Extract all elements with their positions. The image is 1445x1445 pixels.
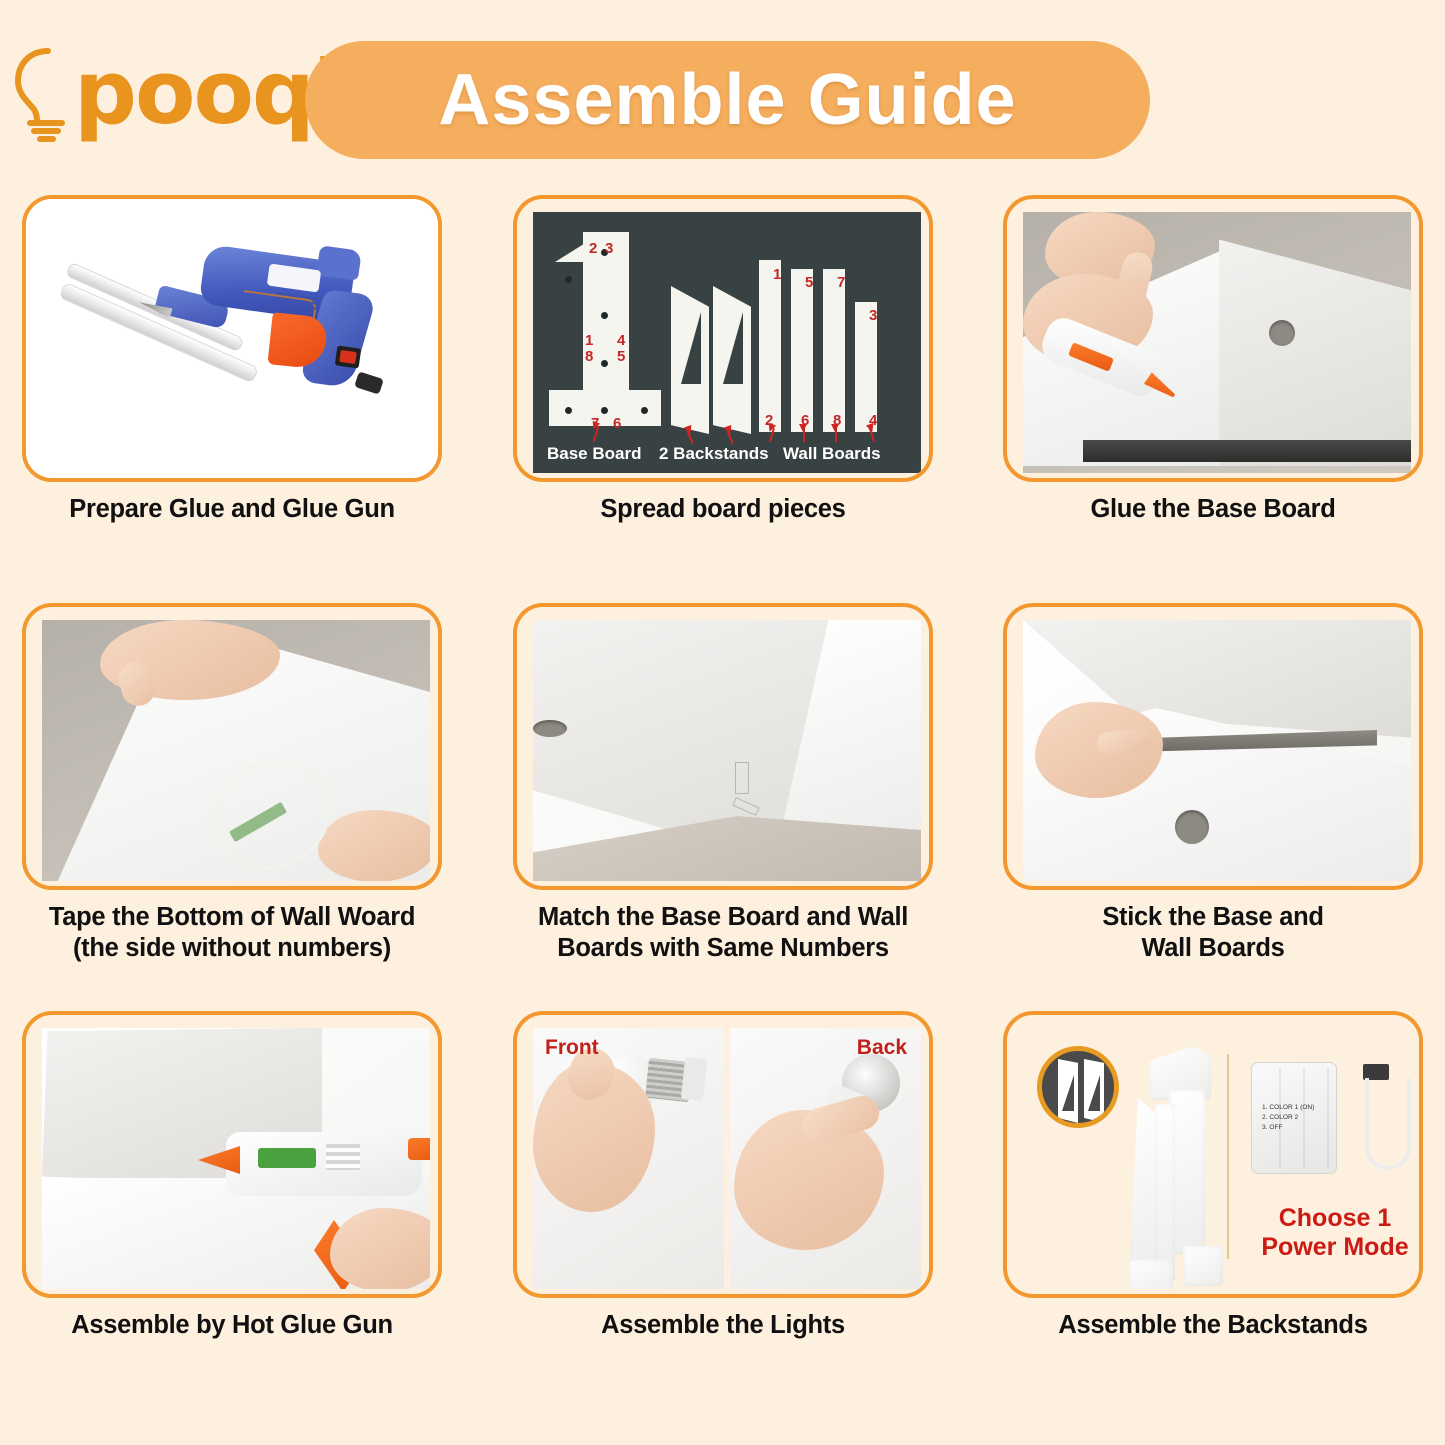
- power-mode-line1: Choose 1: [1279, 1204, 1392, 1232]
- step-3-caption: Glue the Base Board: [1003, 494, 1423, 525]
- step-card-3: Glue the Base Board: [1003, 195, 1423, 525]
- step-3-image-frame: [1003, 195, 1423, 482]
- two-backstand-pieces-icon: [1037, 1046, 1119, 1128]
- front-photo: Front: [533, 1028, 724, 1289]
- sticking-boards-photo: [1023, 620, 1411, 881]
- base-board-hole: [565, 276, 572, 283]
- step-2-caption: Spread board pieces: [513, 494, 933, 525]
- step-2-image-frame: 2 3 1 8 4 5 7 6: [513, 195, 933, 482]
- battery-box-icon: 1. COLOR 1 (ON) 2. COLOR 2 3. OFF: [1251, 1062, 1337, 1174]
- board-number: 5: [617, 348, 625, 365]
- battery-mode-text: 1. COLOR 1 (ON) 2. COLOR 2 3. OFF: [1262, 1103, 1314, 1133]
- step-1-caption: Prepare Glue and Glue Gun: [22, 494, 442, 525]
- lights-assembly-photos: Front Back: [533, 1028, 921, 1289]
- page-title: Assemble Guide: [438, 59, 1016, 141]
- step-8-image-frame: Front Back: [513, 1011, 933, 1298]
- board-number: 6: [613, 415, 621, 432]
- number-foot-left: [1129, 1260, 1173, 1289]
- base-board-hole: [641, 407, 648, 414]
- step-card-1: Prepare Glue and Glue Gun: [22, 195, 442, 525]
- title-banner: Assemble Guide: [305, 41, 1150, 159]
- glue-gun-vents: [326, 1144, 360, 1170]
- wall-board: [791, 269, 813, 432]
- step-card-5: Match the Base Board and Wall Boards wit…: [513, 603, 933, 964]
- steps-row-3: Assemble by Hot Glue Gun Front: [0, 1011, 1445, 1419]
- backstand-right: [1155, 1104, 1175, 1280]
- back-label: Back: [857, 1036, 907, 1060]
- step-card-2: 2 3 1 8 4 5 7 6: [513, 195, 933, 525]
- blue-glue-gun-illustration: [26, 199, 438, 478]
- number-foot: [1183, 1246, 1223, 1286]
- board-number: 3: [605, 240, 613, 257]
- step-6-caption-line2: Wall Boards: [1141, 934, 1284, 962]
- table-edge: [1083, 440, 1411, 462]
- backstand-shape: [1058, 1059, 1078, 1123]
- glue-gun-green-label: [258, 1148, 316, 1168]
- wall-board: [823, 269, 845, 432]
- board-pieces-diagram: 2 3 1 8 4 5 7 6: [533, 212, 921, 473]
- base-board-hole: [565, 407, 572, 414]
- base-board-hole: [601, 360, 608, 367]
- board-number: 7: [837, 274, 845, 291]
- backstand-shape: [1084, 1059, 1104, 1123]
- power-mode-note: Choose 1 Power Mode: [1237, 1204, 1411, 1261]
- step-card-8: Front Back: [513, 1011, 933, 1341]
- board-number: 3: [869, 307, 877, 324]
- usb-cable-icon: [1357, 1064, 1411, 1174]
- step-5-image-frame: [513, 603, 933, 890]
- step-9-caption: Assemble the Backstands: [1003, 1310, 1423, 1341]
- group-label-wall-boards: Wall Boards: [783, 444, 881, 464]
- glue-gun-power-switch-icon: [335, 345, 362, 368]
- step-7-image-frame: [22, 1011, 442, 1298]
- step-4-caption: Tape the Bottom of Wall Woard (the side …: [22, 902, 442, 964]
- hand: [318, 810, 430, 881]
- board-hole: [1175, 810, 1209, 844]
- hot-glue-gun-photo: [42, 1028, 430, 1289]
- step-card-6: Stick the Base and Wall Boards: [1003, 603, 1423, 964]
- back-photo: Back: [730, 1028, 921, 1289]
- pointer-arrow-head: [799, 424, 807, 432]
- gluing-base-board-photo: [1023, 212, 1411, 473]
- step-card-4: Tape the Bottom of Wall Woard (the side …: [22, 603, 442, 964]
- board-number: 8: [585, 348, 593, 365]
- bulb-tip: [681, 1057, 707, 1101]
- board-hole: [1269, 320, 1295, 346]
- matching-numbers-photo: [533, 620, 921, 881]
- assembled-number-with-backstands: [1115, 1046, 1225, 1289]
- step-8-caption: Assemble the Lights: [513, 1310, 933, 1341]
- glue-gun-plug-icon: [354, 371, 384, 394]
- glue-gun-back-icon: [316, 245, 362, 281]
- number-mark-1: [735, 762, 749, 794]
- usb-wire: [1365, 1078, 1411, 1170]
- step-6-caption: Stick the Base and Wall Boards: [1003, 902, 1423, 964]
- step-7-caption: Assemble by Hot Glue Gun: [22, 1310, 442, 1341]
- step-5-caption: Match the Base Board and Wall Boards wit…: [513, 902, 933, 964]
- front-label: Front: [545, 1036, 599, 1060]
- board-hole: [533, 720, 567, 737]
- steps-row-1: Prepare Glue and Glue Gun 2: [0, 195, 1445, 603]
- step-4-caption-line1: Tape the Bottom of Wall Woard: [49, 903, 415, 931]
- step-1-image-frame: [22, 195, 442, 482]
- power-mode-line2: Power Mode: [1261, 1233, 1408, 1261]
- steps-grid: Prepare Glue and Glue Gun 2: [0, 195, 1445, 1419]
- glue-gun-stick-holder: [408, 1138, 430, 1160]
- panel-divider: [1227, 1054, 1229, 1259]
- backstands-and-power-panel: 1. COLOR 1 (ON) 2. COLOR 2 3. OFF Choose…: [1023, 1028, 1411, 1289]
- glue-gun-body: [226, 1132, 422, 1196]
- step-5-caption-line2: Boards with Same Numbers: [557, 934, 888, 962]
- board-number: 2: [589, 240, 597, 257]
- board-number: 4: [617, 332, 625, 349]
- front-back-split: Front Back: [533, 1028, 921, 1289]
- page-header: pooqla Assemble Guide: [0, 0, 1445, 195]
- step-6-image-frame: [1003, 603, 1423, 890]
- wall-board: [759, 260, 781, 432]
- board-number: 1: [773, 266, 781, 283]
- board-number: 1: [585, 332, 593, 349]
- step-card-9: 1. COLOR 1 (ON) 2. COLOR 2 3. OFF Choose…: [1003, 1011, 1423, 1341]
- board-number: 5: [805, 274, 813, 291]
- taping-wall-board-photo: [42, 620, 430, 881]
- step-4-caption-line2: (the side without numbers): [73, 934, 391, 962]
- step-5-caption-line1: Match the Base Board and Wall: [538, 903, 908, 931]
- pointer-arrow-head: [831, 424, 839, 432]
- steps-row-2: Tape the Bottom of Wall Woard (the side …: [0, 603, 1445, 1011]
- step-card-7: Assemble by Hot Glue Gun: [22, 1011, 442, 1341]
- step-4-image-frame: [22, 603, 442, 890]
- step-9-image-frame: 1. COLOR 1 (ON) 2. COLOR 2 3. OFF Choose…: [1003, 1011, 1423, 1298]
- group-label-base-board: Base Board: [547, 444, 641, 464]
- base-board-hole: [601, 407, 608, 414]
- step-6-caption-line1: Stick the Base and: [1102, 903, 1323, 931]
- base-board-hole: [601, 312, 608, 319]
- group-label-backstands: 2 Backstands: [659, 444, 769, 464]
